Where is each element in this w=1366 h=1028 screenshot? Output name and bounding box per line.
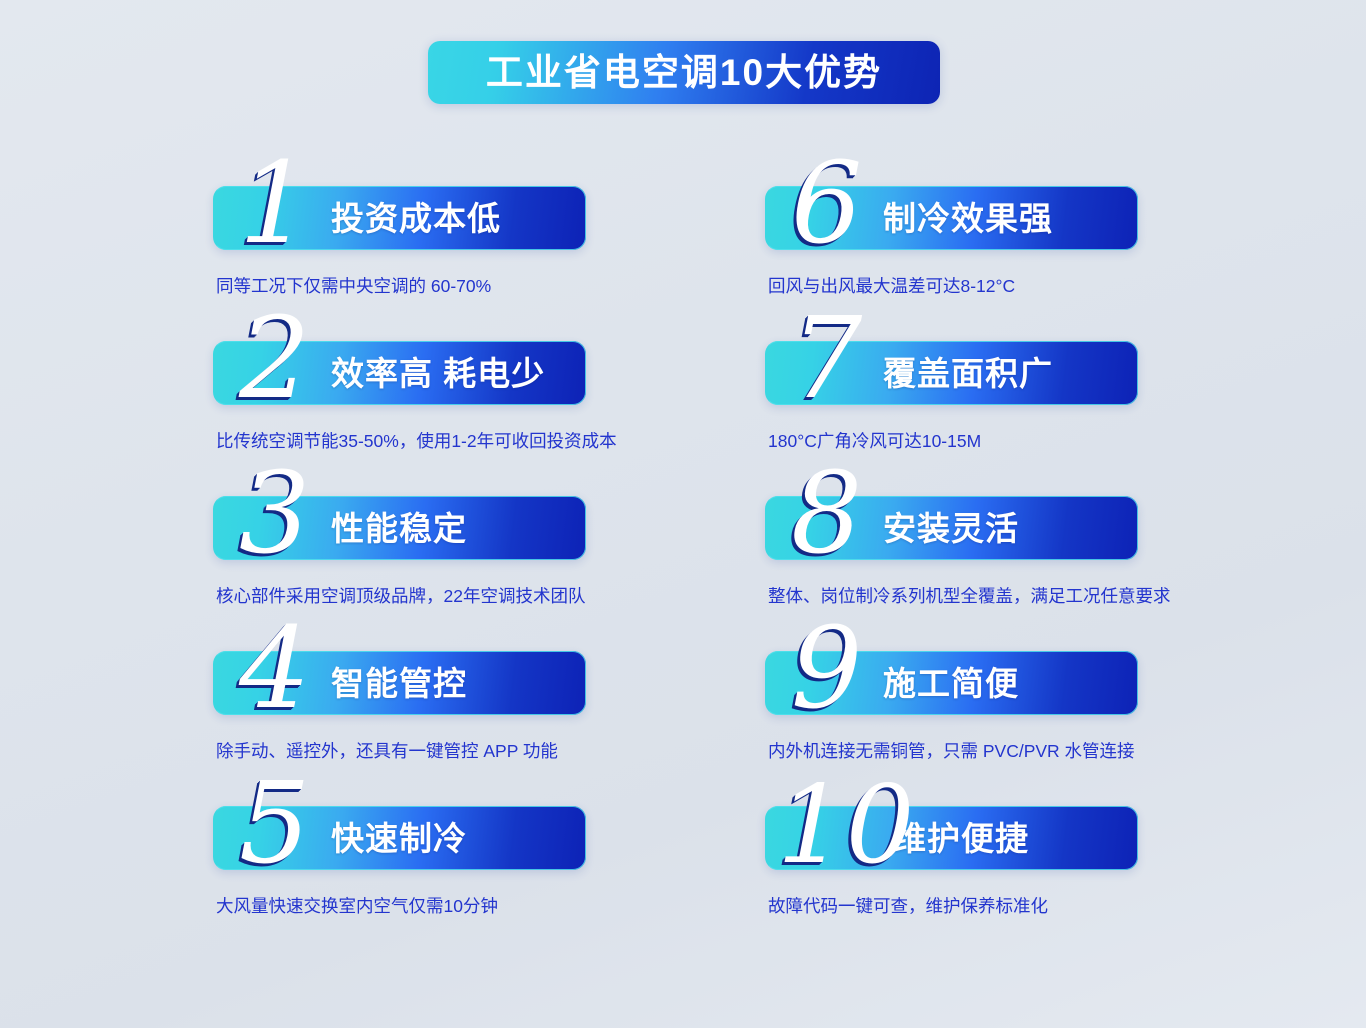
advantage-title-5: 快速制冷	[331, 822, 467, 855]
advantage-pill-5: 5 快速制冷	[213, 806, 586, 870]
advantage-pill-6: 6 制冷效果强	[765, 186, 1138, 250]
advantage-subtitle-10: 故障代码一键可查，维护保养标准化	[768, 895, 1365, 918]
advantage-subtitle-7: 180°C广角冷风可达10-15M	[768, 430, 1365, 453]
advantage-title-9: 施工简便	[883, 667, 1019, 700]
page-title: 工业省电空调10大优势	[486, 54, 882, 91]
advantage-subtitle-3: 核心部件采用空调顶级品牌，22年空调技术团队	[216, 585, 813, 608]
advantages-column-left: 1 投资成本低 同等工况下仅需中央空调的 60-70% 2 效率高 耗电少 比传…	[213, 186, 813, 961]
advantage-item-9: 9 施工简便 内外机连接无需铜管，只需 PVC/PVR 水管连接	[765, 651, 1365, 806]
advantage-pill-2: 2 效率高 耗电少	[213, 341, 586, 405]
advantage-item-6: 6 制冷效果强 回风与出风最大温差可达8-12°C	[765, 186, 1365, 341]
advantage-pill-1: 1 投资成本低	[213, 186, 586, 250]
advantage-subtitle-6: 回风与出风最大温差可达8-12°C	[768, 275, 1365, 298]
advantage-pill-9: 9 施工简便	[765, 651, 1138, 715]
advantage-item-10: 10 维护便捷 故障代码一键可查，维护保养标准化	[765, 806, 1365, 961]
advantage-title-7: 覆盖面积广	[883, 357, 1053, 390]
advantage-subtitle-4: 除手动、遥控外，还具有一键管控 APP 功能	[216, 740, 813, 763]
advantage-item-7: 7 覆盖面积广 180°C广角冷风可达10-15M	[765, 341, 1365, 496]
advantage-pill-8: 8 安装灵活	[765, 496, 1138, 560]
advantage-title-4: 智能管控	[331, 667, 467, 700]
advantage-subtitle-2: 比传统空调节能35-50%，使用1-2年可收回投资成本	[216, 430, 813, 453]
advantage-title-6: 制冷效果强	[883, 202, 1053, 235]
page-title-banner: 工业省电空调10大优势	[428, 41, 940, 104]
advantage-title-1: 投资成本低	[331, 202, 501, 235]
advantage-item-5: 5 快速制冷 大风量快速交换室内空气仅需10分钟	[213, 806, 813, 961]
advantage-item-2: 2 效率高 耗电少 比传统空调节能35-50%，使用1-2年可收回投资成本	[213, 341, 813, 496]
advantage-item-4: 4 智能管控 除手动、遥控外，还具有一键管控 APP 功能	[213, 651, 813, 806]
advantage-title-8: 安装灵活	[883, 512, 1019, 545]
advantage-number-6: 6	[791, 148, 862, 260]
advantage-item-1: 1 投资成本低 同等工况下仅需中央空调的 60-70%	[213, 186, 813, 341]
advantage-subtitle-9: 内外机连接无需铜管，只需 PVC/PVR 水管连接	[768, 740, 1365, 763]
advantage-number-1: 1	[239, 148, 310, 260]
advantage-pill-3: 3 性能稳定	[213, 496, 586, 560]
advantage-title-2: 效率高 耗电少	[331, 357, 545, 390]
advantage-item-8: 8 安装灵活 整体、岗位制冷系列机型全覆盖，满足工况任意要求	[765, 496, 1365, 651]
advantage-item-3: 3 性能稳定 核心部件采用空调顶级品牌，22年空调技术团队	[213, 496, 813, 651]
advantage-subtitle-5: 大风量快速交换室内空气仅需10分钟	[216, 895, 813, 918]
advantage-pill-10: 10 维护便捷	[765, 806, 1138, 870]
advantages-column-right: 6 制冷效果强 回风与出风最大温差可达8-12°C 7 覆盖面积广 180°C广…	[765, 186, 1365, 961]
advantage-title-3: 性能稳定	[331, 512, 467, 545]
advantage-pill-7: 7 覆盖面积广	[765, 341, 1138, 405]
advantage-subtitle-1: 同等工况下仅需中央空调的 60-70%	[216, 275, 813, 298]
advantage-subtitle-8: 整体、岗位制冷系列机型全覆盖，满足工况任意要求	[768, 585, 1365, 608]
advantage-title-10: 维护便捷	[893, 822, 1029, 855]
advantage-pill-4: 4 智能管控	[213, 651, 586, 715]
